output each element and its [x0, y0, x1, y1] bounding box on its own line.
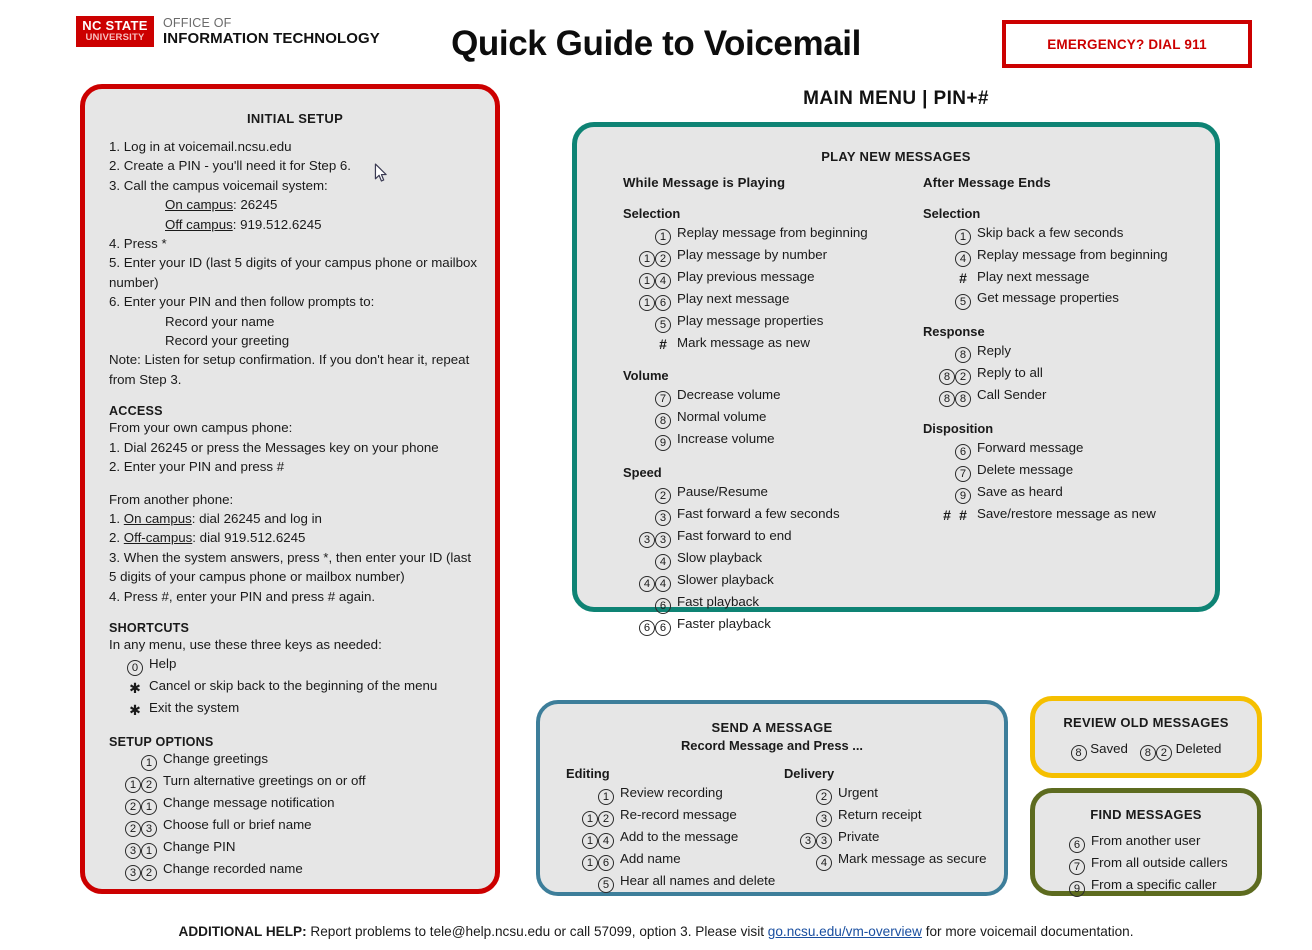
- key-sequence: 7: [1069, 853, 1091, 875]
- option-label: Play message properties: [677, 311, 823, 331]
- key-4-icon: 4: [816, 855, 832, 871]
- option-label: Change recorded name: [163, 859, 303, 879]
- key-8-icon: 8: [939, 391, 955, 407]
- option-label: Slow playback: [677, 548, 762, 568]
- option-label: Play next message: [977, 267, 1089, 287]
- option-label: Increase volume: [677, 429, 775, 449]
- key-sequence: 8: [623, 407, 677, 429]
- access-another-phone-intro: From another phone:: [109, 490, 481, 509]
- key-sequence: 9: [623, 429, 677, 451]
- option-label: Fast forward a few seconds: [677, 504, 840, 524]
- option-label: Save/restore message as new: [977, 504, 1156, 524]
- option-row[interactable]: 5Play message properties: [623, 311, 923, 333]
- while-message-playing-groups: Selection1Replay message from beginning1…: [623, 206, 923, 636]
- key-7-icon: 7: [1069, 859, 1085, 875]
- access-step: 2. Enter your PIN and press #: [109, 457, 481, 476]
- option-label: Change PIN: [163, 837, 235, 857]
- review-old-messages-list: 8 Saved82 Deleted: [1035, 741, 1257, 761]
- send-a-message-title: SEND A MESSAGE: [540, 720, 1004, 735]
- key-2-icon: 2: [816, 789, 832, 805]
- key-4-icon: 4: [598, 833, 614, 849]
- option-label: Fast playback: [677, 592, 759, 612]
- key-2-icon: 2: [141, 865, 157, 881]
- option-label: Get message properties: [977, 288, 1119, 308]
- key-star-icon: ✱: [127, 678, 143, 698]
- key-sequence: 16: [623, 289, 677, 311]
- key-8-icon: 8: [955, 391, 971, 407]
- key-6-icon: 6: [598, 855, 614, 871]
- group-heading: Volume: [623, 368, 923, 383]
- key-sequence: ✱: [109, 698, 149, 720]
- option-label: Cancel or skip back to the beginning of …: [149, 676, 437, 696]
- option-row[interactable]: 23Choose full or brief name: [109, 815, 481, 837]
- key-sequence: 88: [923, 385, 977, 407]
- group-heading: Response: [923, 324, 1213, 339]
- key-1-icon: 1: [598, 789, 614, 805]
- find-messages-title: FIND MESSAGES: [1035, 807, 1257, 822]
- key-sequence: 0: [109, 654, 149, 676]
- key-sequence: 82: [923, 363, 977, 385]
- key-6-icon: 6: [955, 444, 971, 460]
- setup-step: 3. Call the campus voicemail system:: [109, 176, 481, 195]
- key-2-icon: 2: [655, 488, 671, 504]
- setup-step: 2. Create a PIN - you'll need it for Ste…: [109, 156, 481, 175]
- shortcuts-list: 0Help✱Cancel or skip back to the beginni…: [109, 654, 481, 720]
- key-1-icon: 1: [639, 251, 655, 267]
- key-sequence: 12: [566, 805, 620, 827]
- option-label: Re-record message: [620, 805, 737, 825]
- key-sequence: 6: [1069, 831, 1091, 853]
- setup-step: Note: Listen for setup confirmation. If …: [109, 350, 481, 389]
- editing-column: Editing 1Review recording12Re-record mes…: [566, 766, 784, 893]
- editing-list: 1Review recording12Re-record message14Ad…: [566, 783, 784, 893]
- option-row[interactable]: 3Return receipt: [784, 805, 986, 827]
- option-label: Forward message: [977, 438, 1083, 458]
- play-new-messages-columns: While Message is Playing Selection1Repla…: [623, 175, 1213, 636]
- key-3-icon: 3: [125, 865, 141, 881]
- option-row[interactable]: 9Increase volume: [623, 429, 923, 451]
- option-label: Faster playback: [677, 614, 771, 634]
- option-row[interactable]: 1Replay message from beginning: [623, 223, 923, 245]
- footer-bold-lead: ADDITIONAL HELP:: [179, 924, 307, 939]
- key-1-icon: 1: [582, 811, 598, 827]
- key-hash-icon: #: [955, 268, 971, 288]
- key-2-icon: 2: [955, 369, 971, 385]
- page-header: NC STATE UNIVERSITY OFFICE OF INFORMATIO…: [0, 0, 1312, 80]
- key-sequence: ✱: [109, 676, 149, 698]
- option-row[interactable]: 2Urgent: [784, 783, 986, 805]
- option-row[interactable]: 4Slow playback: [623, 548, 923, 570]
- key-7-icon: 7: [955, 466, 971, 482]
- key-hash-icon: #: [655, 334, 671, 354]
- option-row[interactable]: 1Skip back a few seconds: [923, 223, 1213, 245]
- option-row[interactable]: 12Play message by number: [623, 245, 923, 267]
- key-sequence: 12: [109, 771, 163, 793]
- key-2-icon: 2: [1156, 745, 1172, 761]
- option-label: Reply: [977, 341, 1011, 361]
- option-label: Deleted: [1176, 741, 1222, 756]
- initial-setup-panel: INITIAL SETUP 1. Log in at voicemail.ncs…: [80, 84, 500, 894]
- option-row[interactable]: 66Faster playback: [623, 614, 923, 636]
- key-sequence: 5: [623, 311, 677, 333]
- key-sequence: ##: [923, 504, 977, 525]
- key-sequence: 9: [1069, 875, 1091, 897]
- key-sequence: 8: [923, 341, 977, 363]
- setup-steps-list: 1. Log in at voicemail.ncsu.edu2. Create…: [109, 137, 481, 389]
- group-heading: Selection: [923, 206, 1213, 221]
- key-3-icon: 3: [655, 532, 671, 548]
- key-3-icon: 3: [816, 833, 832, 849]
- option-row[interactable]: 4Mark message as secure: [784, 849, 986, 871]
- emergency-banner: EMERGENCY? DIAL 911: [1002, 20, 1252, 68]
- option-label: Turn alternative greetings on or off: [163, 771, 366, 791]
- access-step: 3. When the system answers, press *, the…: [109, 548, 481, 587]
- key-sequence: 6: [623, 592, 677, 614]
- option-label: Urgent: [838, 783, 878, 803]
- option-label: Mark message as new: [677, 333, 810, 353]
- access-step: 4. Press #, enter your PIN and press # a…: [109, 587, 481, 606]
- key-1-icon: 1: [582, 855, 598, 871]
- key-1-icon: 1: [141, 799, 157, 815]
- key-sequence: 14: [566, 827, 620, 849]
- setup-step: 4. Press *: [109, 234, 481, 253]
- key-3-icon: 3: [816, 811, 832, 827]
- option-row[interactable]: 8 Saved: [1071, 741, 1128, 761]
- key-4-icon: 4: [639, 576, 655, 592]
- option-row[interactable]: 6Fast playback: [623, 592, 923, 614]
- option-row[interactable]: 82 Deleted: [1140, 741, 1222, 761]
- footer-help-line: ADDITIONAL HELP: Report problems to tele…: [0, 924, 1312, 939]
- access-own-phone-steps: 1. Dial 26245 or press the Messages key …: [109, 438, 481, 477]
- option-label: Add to the message: [620, 827, 738, 847]
- delivery-heading: Delivery: [784, 766, 986, 781]
- key-1-icon: 1: [655, 229, 671, 245]
- setup-step: Record your greeting: [109, 331, 481, 350]
- key-star-icon: ✱: [127, 700, 143, 720]
- key-sequence: 1: [623, 223, 677, 245]
- key-sequence: 3: [623, 504, 677, 526]
- key-8-icon: 8: [955, 347, 971, 363]
- key-1-icon: 1: [582, 833, 598, 849]
- underlined-term: Off campus: [165, 217, 233, 232]
- key-sequence: 23: [109, 815, 163, 837]
- setup-step: 1. Log in at voicemail.ncsu.edu: [109, 137, 481, 156]
- key-sequence: 1: [566, 783, 620, 805]
- option-label: Hear all names and delete: [620, 871, 775, 891]
- key-sequence: 1: [923, 223, 977, 245]
- option-label: Help: [149, 654, 176, 674]
- key-sequence: 4: [784, 849, 838, 871]
- key-hash-icon: #: [955, 505, 971, 525]
- key-9-icon: 9: [1069, 881, 1085, 897]
- footer-text-2: for more voicemail documentation.: [926, 924, 1134, 939]
- option-label: From all outside callers: [1091, 853, 1228, 873]
- while-message-playing-column: While Message is Playing Selection1Repla…: [623, 175, 923, 636]
- option-label: Replay message from beginning: [677, 223, 868, 243]
- key-hash-icon: #: [939, 505, 955, 525]
- key-sequence: #: [923, 267, 977, 288]
- option-label: Play previous message: [677, 267, 814, 287]
- option-label: Choose full or brief name: [163, 815, 312, 835]
- option-label: Mark message as secure: [838, 849, 987, 869]
- key-sequence: 4: [623, 548, 677, 570]
- key-5-icon: 5: [655, 317, 671, 333]
- option-row[interactable]: 33Private: [784, 827, 986, 849]
- key-sequence: 7: [623, 385, 677, 407]
- underlined-term: On campus: [124, 511, 192, 526]
- setup-step: Record your name: [109, 312, 481, 331]
- key-1-icon: 1: [141, 755, 157, 771]
- key-2-icon: 2: [141, 777, 157, 793]
- group-heading: Speed: [623, 465, 923, 480]
- option-row[interactable]: 5Get message properties: [923, 288, 1213, 310]
- option-row[interactable]: 6From another user: [1069, 831, 1259, 853]
- shortcuts-intro: In any menu, use these three keys as nee…: [109, 635, 481, 654]
- key-6-icon: 6: [1069, 837, 1085, 853]
- option-row[interactable]: #Play next message: [923, 267, 1213, 288]
- option-row[interactable]: ✱Cancel or skip back to the beginning of…: [109, 676, 481, 698]
- setup-options-list: 1Change greetings12Turn alternative gree…: [109, 749, 481, 881]
- option-row[interactable]: ##Save/restore message as new: [923, 504, 1213, 525]
- key-sequence: 16: [566, 849, 620, 871]
- option-row[interactable]: 9Save as heard: [923, 482, 1213, 504]
- key-3-icon: 3: [141, 821, 157, 837]
- setup-step: Off campus: 919.512.6245: [109, 215, 481, 234]
- key-sequence: 33: [784, 827, 838, 849]
- find-messages-panel: FIND MESSAGES 6From another user7From al…: [1030, 788, 1262, 896]
- option-label: Change greetings: [163, 749, 268, 769]
- group-heading: Disposition: [923, 421, 1213, 436]
- option-row[interactable]: 88Call Sender: [923, 385, 1213, 407]
- setup-step: On campus: 26245: [109, 195, 481, 214]
- option-row[interactable]: 16Add name: [566, 849, 784, 871]
- option-row[interactable]: 9From a specific caller: [1069, 875, 1259, 897]
- option-row[interactable]: 8Normal volume: [623, 407, 923, 429]
- key-sequence: 7: [923, 460, 977, 482]
- key-4-icon: 4: [655, 273, 671, 289]
- option-row[interactable]: 6Forward message: [923, 438, 1213, 460]
- key-sequence: 12: [623, 245, 677, 267]
- key-4-icon: 4: [955, 251, 971, 267]
- access-another-phone-steps: 1. On campus: dial 26245 and log in2. Of…: [109, 509, 481, 606]
- key-sequence: #: [623, 333, 677, 354]
- key-3-icon: 3: [655, 510, 671, 526]
- key-sequence: 4: [923, 245, 977, 267]
- find-messages-list: 6From another user7From all outside call…: [1069, 831, 1259, 897]
- option-row[interactable]: 16Play next message: [623, 289, 923, 311]
- shortcuts-heading: SHORTCUTS: [109, 621, 481, 635]
- key-1-icon: 1: [639, 273, 655, 289]
- option-label: Save as heard: [977, 482, 1063, 502]
- option-label: Change message notification: [163, 793, 335, 813]
- option-label: Reply to all: [977, 363, 1043, 383]
- access-step: 1. On campus: dial 26245 and log in: [109, 509, 481, 528]
- key-9-icon: 9: [955, 488, 971, 504]
- key-sequence: 2: [623, 482, 677, 504]
- key-3-icon: 3: [639, 532, 655, 548]
- send-a-message-panel: SEND A MESSAGE Record Message and Press …: [536, 700, 1008, 896]
- key-7-icon: 7: [655, 391, 671, 407]
- option-label: Private: [838, 827, 879, 847]
- option-row[interactable]: 12Re-record message: [566, 805, 784, 827]
- key-1-icon: 1: [955, 229, 971, 245]
- delivery-list: 2Urgent3Return receipt33Private4Mark mes…: [784, 783, 986, 871]
- after-message-ends-heading: After Message Ends: [923, 175, 1213, 190]
- review-old-messages-panel: REVIEW OLD MESSAGES 8 Saved82 Deleted: [1030, 696, 1262, 778]
- key-sequence: 32: [109, 859, 163, 881]
- key-sequence: 44: [623, 570, 677, 592]
- key-6-icon: 6: [655, 295, 671, 311]
- option-label: Pause/Resume: [677, 482, 768, 502]
- option-row[interactable]: 21Change message notification: [109, 793, 481, 815]
- option-label: Return receipt: [838, 805, 922, 825]
- emergency-banner-label: EMERGENCY? DIAL 911: [1047, 37, 1207, 52]
- while-message-playing-heading: While Message is Playing: [623, 175, 923, 190]
- key-2-icon: 2: [655, 251, 671, 267]
- review-old-messages-title: REVIEW OLD MESSAGES: [1035, 715, 1257, 730]
- play-new-messages-title: PLAY NEW MESSAGES: [577, 149, 1215, 164]
- key-2-icon: 2: [125, 799, 141, 815]
- option-label: Skip back a few seconds: [977, 223, 1123, 243]
- option-row[interactable]: 7Delete message: [923, 460, 1213, 482]
- key-sequence: 14: [623, 267, 677, 289]
- key-1-icon: 1: [639, 295, 655, 311]
- key-6-icon: 6: [655, 598, 671, 614]
- option-row[interactable]: 1Change greetings: [109, 749, 481, 771]
- option-label: Call Sender: [977, 385, 1046, 405]
- option-row[interactable]: #Mark message as new: [623, 333, 923, 354]
- footer-text-1: Report problems to tele@help.ncsu.edu or…: [310, 924, 764, 939]
- option-row[interactable]: 82Reply to all: [923, 363, 1213, 385]
- setup-step: 6. Enter your PIN and then follow prompt…: [109, 292, 481, 311]
- option-row[interactable]: 0Help: [109, 654, 481, 676]
- key-2-icon: 2: [598, 811, 614, 827]
- key-9-icon: 9: [655, 435, 671, 451]
- setup-step: 5. Enter your ID (last 5 digits of your …: [109, 253, 481, 292]
- option-row[interactable]: 31Change PIN: [109, 837, 481, 859]
- setup-options-heading: SETUP OPTIONS: [109, 735, 481, 749]
- key-sequence: 6: [923, 438, 977, 460]
- underlined-term: On campus: [165, 197, 233, 212]
- vm-overview-link[interactable]: go.ncsu.edu/vm-overview: [768, 924, 922, 939]
- main-menu-heading: MAIN MENU | PIN+#: [596, 88, 1196, 110]
- key-sequence: 31: [109, 837, 163, 859]
- option-row[interactable]: 7From all outside callers: [1069, 853, 1259, 875]
- underlined-term: Off-campus: [124, 530, 192, 545]
- option-label: Add name: [620, 849, 681, 869]
- key-3-icon: 3: [125, 843, 141, 859]
- key-4-icon: 4: [655, 554, 671, 570]
- access-own-phone-intro: From your own campus phone:: [109, 418, 481, 437]
- access-heading: ACCESS: [109, 404, 481, 418]
- play-new-messages-panel: PLAY NEW MESSAGES While Message is Playi…: [572, 122, 1220, 612]
- option-label: Decrease volume: [677, 385, 780, 405]
- key-sequence: 21: [109, 793, 163, 815]
- spacer: [109, 477, 481, 490]
- option-label: Slower playback: [677, 570, 774, 590]
- key-1-icon: 1: [141, 843, 157, 859]
- group-heading: Selection: [623, 206, 923, 221]
- key-4-icon: 4: [655, 576, 671, 592]
- access-step: 2. Off-campus: dial 919.512.6245: [109, 528, 481, 547]
- option-label: Delete message: [977, 460, 1073, 480]
- key-sequence: 1: [109, 749, 163, 771]
- key-5-icon: 5: [955, 294, 971, 310]
- option-row[interactable]: 12Turn alternative greetings on or off: [109, 771, 481, 793]
- option-row[interactable]: 2Pause/Resume: [623, 482, 923, 504]
- key-6-icon: 6: [639, 620, 655, 636]
- send-a-message-columns: Editing 1Review recording12Re-record mes…: [566, 766, 986, 893]
- key-sequence: 33: [623, 526, 677, 548]
- editing-heading: Editing: [566, 766, 784, 781]
- after-message-ends-groups: Selection1Skip back a few seconds4Replay…: [923, 206, 1213, 525]
- option-row[interactable]: ✱Exit the system: [109, 698, 481, 720]
- option-row[interactable]: 32Change recorded name: [109, 859, 481, 881]
- option-label: From another user: [1091, 831, 1200, 851]
- initial-setup-title: INITIAL SETUP: [85, 111, 505, 126]
- key-1-icon: 1: [125, 777, 141, 793]
- key-8-icon: 8: [655, 413, 671, 429]
- option-label: Play next message: [677, 289, 789, 309]
- send-a-message-subtitle: Record Message and Press ...: [540, 738, 1004, 753]
- option-row[interactable]: 33Fast forward to end: [623, 526, 923, 548]
- after-message-ends-column: After Message Ends Selection1Skip back a…: [923, 175, 1213, 636]
- option-row[interactable]: 8Reply: [923, 341, 1213, 363]
- option-row[interactable]: 44Slower playback: [623, 570, 923, 592]
- option-label: Review recording: [620, 783, 723, 803]
- option-row[interactable]: 5Hear all names and delete: [566, 871, 784, 893]
- key-sequence: 5: [566, 871, 620, 893]
- option-label: Saved: [1090, 741, 1128, 756]
- delivery-column: Delivery 2Urgent3Return receipt33Private…: [784, 766, 986, 893]
- option-row[interactable]: 4Replay message from beginning: [923, 245, 1213, 267]
- option-label: Exit the system: [149, 698, 239, 718]
- key-8-icon: 8: [939, 369, 955, 385]
- key-sequence: 5: [923, 288, 977, 310]
- option-row[interactable]: 3Fast forward a few seconds: [623, 504, 923, 526]
- key-5-icon: 5: [598, 877, 614, 893]
- key-sequence: 3: [784, 805, 838, 827]
- key-2-icon: 2: [125, 821, 141, 837]
- option-label: Fast forward to end: [677, 526, 792, 546]
- option-label: Play message by number: [677, 245, 827, 265]
- option-label: Normal volume: [677, 407, 766, 427]
- option-row[interactable]: 1Review recording: [566, 783, 784, 805]
- option-row[interactable]: 14Add to the message: [566, 827, 784, 849]
- key-sequence: 2: [784, 783, 838, 805]
- key-3-icon: 3: [800, 833, 816, 849]
- access-step: 1. Dial 26245 or press the Messages key …: [109, 438, 481, 457]
- key-sequence: 9: [923, 482, 977, 504]
- option-label: Replay message from beginning: [977, 245, 1168, 265]
- key-sequence: 66: [623, 614, 677, 636]
- key-0-icon: 0: [127, 660, 143, 676]
- key-8-icon: 8: [1071, 745, 1087, 761]
- key-6-icon: 6: [655, 620, 671, 636]
- option-row[interactable]: 14Play previous message: [623, 267, 923, 289]
- initial-setup-body: 1. Log in at voicemail.ncsu.edu2. Create…: [109, 137, 481, 881]
- option-label: From a specific caller: [1091, 875, 1217, 895]
- key-8-icon: 8: [1140, 745, 1156, 761]
- option-row[interactable]: 7Decrease volume: [623, 385, 923, 407]
